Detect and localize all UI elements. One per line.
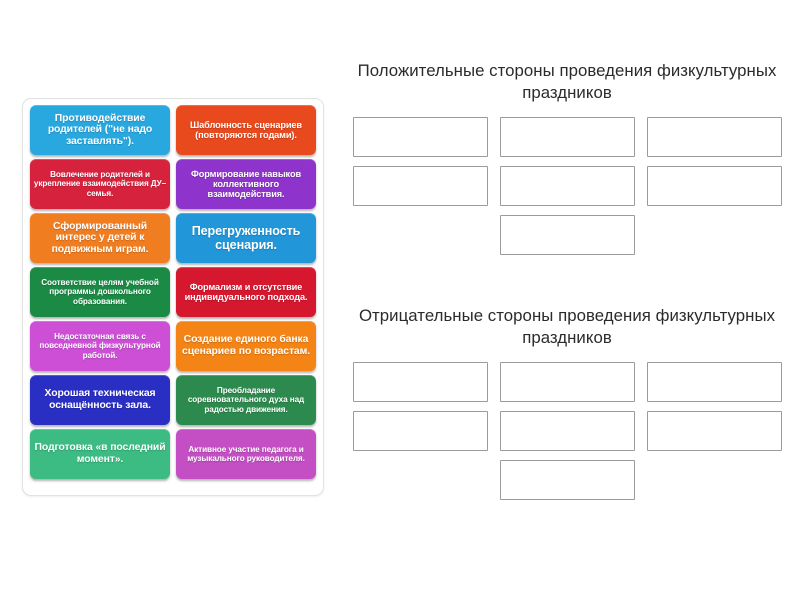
- draggable-card-label: Создание единого банка сценариев по возр…: [179, 334, 313, 357]
- group-positive-title: Положительные стороны проведения физкуль…: [344, 60, 790, 104]
- drop-slot[interactable]: [500, 411, 635, 451]
- draggable-card-label: Перегруженность сценария.: [179, 224, 313, 252]
- group-negative-slots: [344, 362, 790, 500]
- draggable-card[interactable]: Сформированный интерес у детей к подвижн…: [30, 213, 170, 263]
- draggable-card[interactable]: Хорошая техническая оснащённость зала.: [30, 375, 170, 425]
- group-negative: Отрицательные стороны проведения физкуль…: [344, 305, 790, 500]
- drop-slot[interactable]: [647, 166, 782, 206]
- group-positive: Положительные стороны проведения физкуль…: [344, 60, 790, 255]
- draggable-card[interactable]: Шаблонность сценариев (повторяются годам…: [176, 105, 316, 155]
- card-tray: Противодействие родителей ("не надо заст…: [22, 98, 324, 496]
- draggable-card-label: Вовлечение родителей и укрепление взаимо…: [33, 170, 167, 198]
- draggable-card[interactable]: Перегруженность сценария.: [176, 213, 316, 263]
- drop-slot[interactable]: [500, 460, 635, 500]
- draggable-card[interactable]: Формализм и отсутствие индивидуального п…: [176, 267, 316, 317]
- draggable-card-label: Сформированный интерес у детей к подвижн…: [33, 221, 167, 256]
- drop-slot[interactable]: [500, 117, 635, 157]
- drop-slot[interactable]: [353, 411, 488, 451]
- draggable-card-label: Формализм и отсутствие индивидуального п…: [179, 282, 313, 303]
- drop-slot[interactable]: [647, 362, 782, 402]
- draggable-card-label: Противодействие родителей ("не надо заст…: [33, 113, 167, 148]
- draggable-card-label: Хорошая техническая оснащённость зала.: [33, 388, 167, 411]
- draggable-card[interactable]: Недостаточная связь с повседневной физку…: [30, 321, 170, 371]
- drop-slot[interactable]: [353, 362, 488, 402]
- drop-slot[interactable]: [500, 166, 635, 206]
- drop-slot[interactable]: [353, 117, 488, 157]
- draggable-card-label: Активное участие педагога и музыкального…: [179, 445, 313, 463]
- draggable-card[interactable]: Противодействие родителей ("не надо заст…: [30, 105, 170, 155]
- draggable-card[interactable]: Соответствие целям учебной программы дош…: [30, 267, 170, 317]
- draggable-card-label: Подготовка «в последний момент».: [33, 442, 167, 465]
- draggable-card[interactable]: Подготовка «в последний момент».: [30, 429, 170, 479]
- drop-slot[interactable]: [647, 117, 782, 157]
- draggable-card-label: Недостаточная связь с повседневной физку…: [33, 332, 167, 360]
- draggable-card[interactable]: Преобладание соревновательного духа над …: [176, 375, 316, 425]
- draggable-card[interactable]: Формирование навыков коллективного взаим…: [176, 159, 316, 209]
- draggable-card[interactable]: Активное участие педагога и музыкального…: [176, 429, 316, 479]
- drop-slot[interactable]: [647, 411, 782, 451]
- drop-slot[interactable]: [500, 362, 635, 402]
- draggable-card-label: Формирование навыков коллективного взаим…: [179, 169, 313, 200]
- group-negative-title: Отрицательные стороны проведения физкуль…: [344, 305, 790, 349]
- sorting-activity-page: Противодействие родителей ("не надо заст…: [0, 0, 800, 600]
- drop-slot[interactable]: [500, 215, 635, 255]
- draggable-card-label: Шаблонность сценариев (повторяются годам…: [179, 120, 313, 141]
- card-tray-grid: Противодействие родителей ("не надо заст…: [30, 105, 316, 489]
- group-positive-slots: [344, 117, 790, 255]
- draggable-card[interactable]: Создание единого банка сценариев по возр…: [176, 321, 316, 371]
- draggable-card-label: Соответствие целям учебной программы дош…: [33, 278, 167, 306]
- draggable-card-label: Преобладание соревновательного духа над …: [179, 386, 313, 414]
- drop-slot[interactable]: [353, 166, 488, 206]
- draggable-card[interactable]: Вовлечение родителей и укрепление взаимо…: [30, 159, 170, 209]
